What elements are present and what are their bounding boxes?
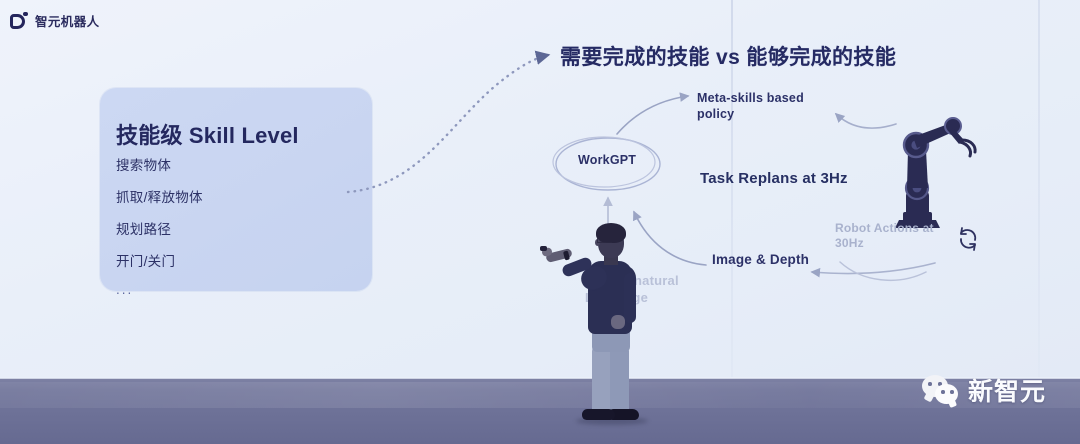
presenter-glasses [597, 237, 612, 243]
list-item: 搜索物体 [116, 154, 203, 174]
list-item: 开门/关门 [116, 250, 203, 270]
list-item: 抓取/释放物体 [116, 186, 203, 206]
presenter-leg-left [592, 346, 610, 415]
label-image-depth: Image & Depth [712, 251, 809, 268]
presenter-arm-right [624, 273, 636, 323]
skill-card-title: 技能级 Skill Level [116, 118, 299, 150]
presenter-figure [540, 215, 660, 430]
wechat-logo-icon [922, 375, 960, 405]
list-ellipsis: ... [116, 282, 203, 297]
label-robot-actions: Robot Actions at 30Hz [835, 221, 950, 251]
label-task-replans: Task Replans at 3Hz [700, 170, 848, 187]
brand-name: 智元机器人 [35, 11, 100, 30]
brand-logo: 智元机器人 [10, 11, 100, 30]
skill-list: 搜索物体 抓取/释放物体 规划路径 开门/关门 ... [116, 154, 203, 297]
wall-seam-right [1038, 0, 1040, 380]
presenter-hand-right [611, 315, 625, 329]
presenter-leg-right [610, 346, 629, 415]
watermark: 新智元 [922, 372, 1046, 408]
company-d-logo-icon [10, 12, 28, 30]
slide-headline: 需要完成的技能 vs 能够完成的技能 [560, 41, 896, 71]
list-item: 规划路径 [116, 218, 203, 238]
presenter-clicker [540, 246, 547, 251]
skill-level-card: 技能级 Skill Level 搜索物体 抓取/释放物体 规划路径 开门/关门 … [100, 88, 372, 291]
watermark-text: 新智元 [968, 372, 1046, 408]
presenter-shoe-left [582, 409, 615, 420]
label-meta-skills: Meta-skills based policy [697, 90, 812, 122]
label-workgpt: WorkGPT [578, 153, 636, 167]
